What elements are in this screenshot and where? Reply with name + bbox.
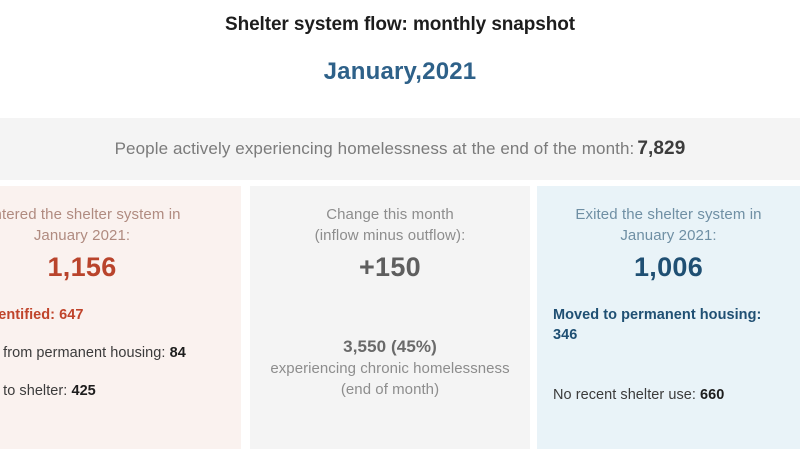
inflow-detail-list: Newly identified: 647 Returned from perm…	[0, 305, 225, 401]
inflow-heading: Entered the shelter system in January 20…	[0, 204, 225, 246]
banner-label: People actively experiencing homelessnes…	[115, 139, 635, 158]
inflow-detail-value: 425	[71, 383, 95, 399]
inflow-heading-line1: Entered the shelter system in	[0, 204, 225, 225]
outflow-detail-no-recent-shelter-use: No recent shelter use: 660	[553, 385, 784, 405]
change-heading: Change this month (inflow minus outflow)…	[266, 204, 514, 246]
dashboard-header: Shelter system flow: monthly snapshot Ja…	[0, 0, 800, 86]
inflow-heading-line2: January 2021:	[0, 225, 225, 246]
inflow-detail-value: 84	[170, 345, 186, 361]
panel-outflow: Exited the shelter system in January 202…	[537, 186, 800, 449]
change-heading-line2: (inflow minus outflow):	[266, 225, 514, 246]
outflow-detail-label: Moved to permanent housing:	[553, 307, 761, 323]
outflow-heading: Exited the shelter system in January 202…	[553, 204, 784, 246]
chronic-label-line2: (end of month)	[266, 379, 514, 400]
shelter-flow-dashboard: Shelter system flow: monthly snapshot Ja…	[0, 0, 800, 449]
inflow-detail-label: Returned from permanent housing:	[0, 345, 165, 361]
outflow-detail-label: No recent shelter use:	[553, 387, 696, 403]
change-total: +150	[266, 251, 514, 283]
chronic-value: 3,550 (45%)	[266, 335, 514, 358]
page-title: Shelter system flow: monthly snapshot	[0, 14, 800, 36]
inflow-detail-label: Newly identified:	[0, 307, 55, 323]
outflow-detail-value: 660	[700, 387, 724, 403]
inflow-detail-returned-from-permanent-housing: Returned from permanent housing: 84	[0, 343, 225, 363]
outflow-detail-value: 346	[553, 327, 577, 343]
panel-inflow: Entered the shelter system in January 20…	[0, 186, 241, 449]
inflow-detail-label: Returned to shelter:	[0, 383, 67, 399]
month-subtitle: January,2021	[0, 58, 800, 86]
panel-change: Change this month (inflow minus outflow)…	[250, 186, 530, 449]
banner-content: People actively experiencing homelessnes…	[115, 138, 686, 160]
banner-value: 7,829	[637, 138, 685, 159]
inflow-detail-value: 647	[59, 307, 83, 323]
active-homelessness-banner: People actively experiencing homelessnes…	[0, 118, 800, 180]
chronic-homelessness-block: 3,550 (45%) experiencing chronic homeles…	[266, 335, 514, 400]
chronic-label-line1: experiencing chronic homelessness	[266, 358, 514, 379]
flow-panels: Entered the shelter system in January 20…	[0, 186, 800, 449]
outflow-total: 1,006	[553, 251, 784, 283]
outflow-heading-line1: Exited the shelter system in	[553, 204, 784, 225]
outflow-detail-list: Moved to permanent housing: 346 No recen…	[553, 305, 784, 405]
outflow-heading-line2: January 2021:	[553, 225, 784, 246]
change-heading-line1: Change this month	[266, 204, 514, 225]
inflow-detail-newly-identified: Newly identified: 647	[0, 305, 225, 325]
outflow-detail-moved-to-permanent-housing: Moved to permanent housing: 346	[553, 305, 784, 345]
inflow-detail-returned-to-shelter: Returned to shelter: 425	[0, 381, 225, 401]
inflow-total: 1,156	[0, 251, 225, 283]
